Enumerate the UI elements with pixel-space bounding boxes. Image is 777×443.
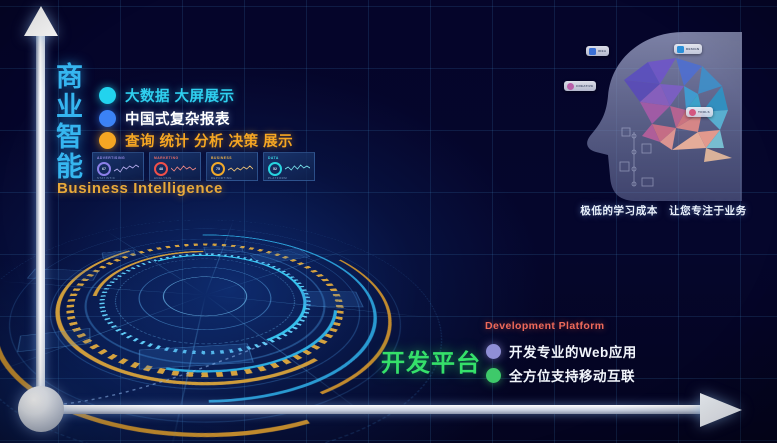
bi-bullet-0: 大数据 大屏展示 <box>99 85 235 106</box>
dev-bullet-0: 开发专业的Web应用 <box>486 341 637 361</box>
gear-icon <box>689 109 696 116</box>
dev-subtitle: Development Platform <box>485 320 604 332</box>
card-header: ADVERTISING <box>97 156 139 160</box>
time-axis-arrow-icon <box>700 393 742 427</box>
card-header: DATA <box>268 156 310 160</box>
bi-bullet-2-label: 查询 统计 分析 决策 展示 <box>125 130 293 151</box>
bubble-creative[interactable]: CREATIVE <box>564 81 596 91</box>
poster-canvas: 商业 智能 大数据 大屏展示 中国式复杂报表 查询 统计 分析 决策 展示 AD… <box>0 0 777 443</box>
dashboard-card-row: ADVERTISING 67 STATISTIC MARKETING 48 <box>92 152 315 181</box>
gauge-value: 52 <box>273 167 277 171</box>
bubble-idea-label: IDEA <box>598 49 606 53</box>
bullet-dot-icon <box>99 110 116 127</box>
gauge-ring-icon: 75 <box>211 162 225 176</box>
dev-headline: 开发平台 <box>381 343 481 378</box>
sparkline-chart <box>285 163 310 175</box>
dev-bullet-0-label: 开发专业的Web应用 <box>509 341 637 361</box>
growth-axis-arrow-icon <box>24 6 58 36</box>
gauge-ring-icon: 52 <box>268 162 282 176</box>
bi-subtitle: Business Intelligence <box>57 180 223 197</box>
dashboard-card[interactable]: BUSINESS 75 REPORTING <box>206 152 258 181</box>
gauge-value: 67 <box>102 167 106 171</box>
head-tagline: 极低的学习成本 让您专注于业务 <box>556 203 771 218</box>
growth-axis-line <box>36 30 45 418</box>
head-brain-graphic: IDEA DESIGN CREATIVE TOOLS <box>556 24 771 204</box>
bullet-dot-icon <box>99 87 116 104</box>
palette-icon <box>677 46 684 53</box>
bubble-tools[interactable]: TOOLS <box>686 107 713 117</box>
gauge-value: 48 <box>159 167 163 171</box>
dashboard-card[interactable]: MARKETING 48 ANALYSIS <box>149 152 201 181</box>
bi-bullet-1-label: 中国式复杂报表 <box>125 108 230 129</box>
origin-sphere <box>18 386 64 432</box>
bubble-tools-label: TOOLS <box>698 110 710 114</box>
dashboard-card[interactable]: ADVERTISING 67 STATISTIC <box>92 152 144 181</box>
chart-icon <box>589 48 596 55</box>
gauge-ring-icon: 67 <box>97 162 111 176</box>
card-footer: PLATFORM <box>268 176 310 180</box>
bi-bullet-2: 查询 统计 分析 决策 展示 <box>99 130 293 151</box>
bubble-design[interactable]: DESIGN <box>674 44 702 54</box>
gauge-value: 75 <box>216 167 220 171</box>
bullet-dot-icon <box>486 344 501 359</box>
sparkline-chart <box>228 163 253 175</box>
card-header: MARKETING <box>154 156 196 160</box>
time-axis-line <box>40 405 705 414</box>
bubble-idea[interactable]: IDEA <box>586 46 609 56</box>
bubble-creative-label: CREATIVE <box>576 84 593 88</box>
sparkline-chart <box>171 163 196 175</box>
bi-bullet-0-label: 大数据 大屏展示 <box>125 85 235 106</box>
bubble-design-label: DESIGN <box>686 47 699 51</box>
card-header: BUSINESS <box>211 156 253 160</box>
bullet-dot-icon <box>99 132 116 149</box>
bi-bullet-1: 中国式复杂报表 <box>99 108 230 129</box>
gauge-ring-icon: 48 <box>154 162 168 176</box>
bullet-dot-icon <box>486 368 501 383</box>
dev-bullet-1: 全方位支持移动互联 <box>486 365 635 385</box>
dashboard-card[interactable]: DATA 52 PLATFORM <box>263 152 315 181</box>
sparkline-chart <box>114 163 139 175</box>
dev-bullet-1-label: 全方位支持移动互联 <box>509 365 635 385</box>
bulb-icon <box>567 83 574 90</box>
